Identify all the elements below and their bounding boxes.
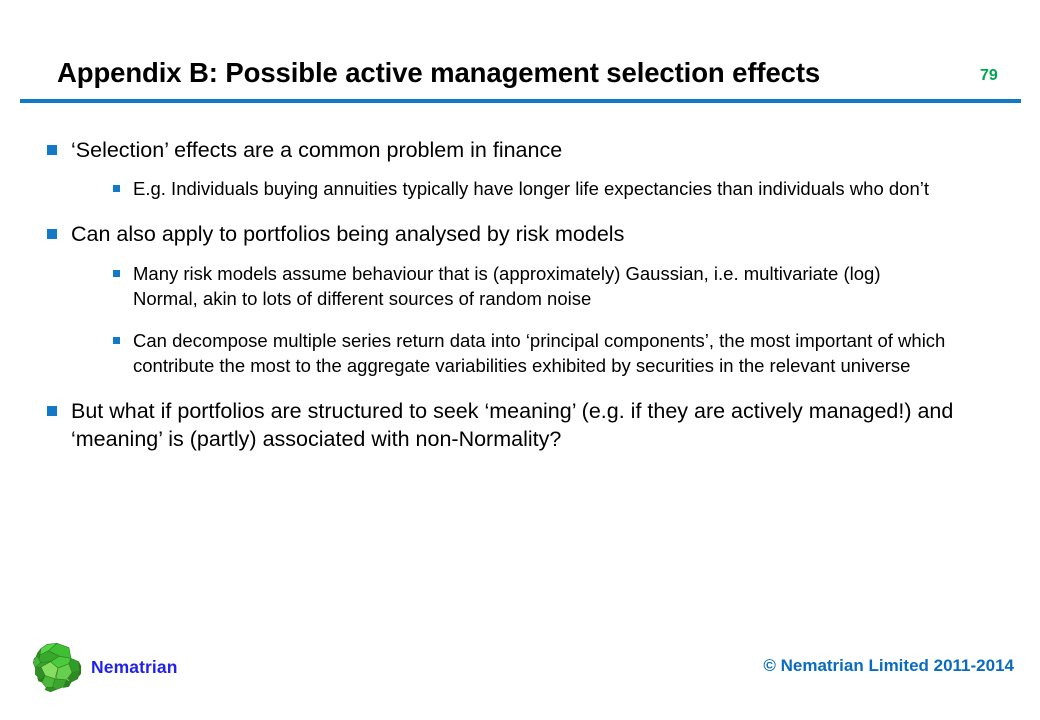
list-item: E.g. Individuals buying annuities typica…	[110, 177, 950, 202]
bullet-text: Can also apply to portfolios being analy…	[71, 222, 624, 246]
square-bullet-icon	[113, 270, 120, 277]
list-item: Many risk models assume behaviour that i…	[110, 262, 950, 312]
page-title: Appendix B: Possible active management s…	[57, 58, 947, 88]
sub-bullet-list: Many risk models assume behaviour that i…	[71, 262, 976, 379]
page-number: 79	[980, 67, 998, 85]
slide: Appendix B: Possible active management s…	[0, 0, 1040, 720]
slide-footer: Nematrian © Nematrian Limited 2011-2014	[0, 634, 1040, 720]
square-bullet-icon	[113, 337, 120, 344]
square-bullet-icon	[113, 185, 120, 192]
square-bullet-icon	[47, 229, 57, 239]
copyright-text: © Nematrian Limited 2011-2014	[763, 656, 1014, 676]
bullet-list: ‘Selection’ effects are a common problem…	[0, 136, 1040, 453]
bullet-text: ‘Selection’ effects are a common problem…	[71, 138, 562, 162]
list-item: But what if portfolios are structured to…	[44, 397, 976, 454]
polyhedron-sphere-icon	[30, 640, 84, 694]
list-item: ‘Selection’ effects are a common problem…	[44, 136, 976, 202]
list-item: Can decompose multiple series return dat…	[110, 329, 950, 379]
sub-bullet-text: Many risk models assume behaviour that i…	[133, 263, 881, 309]
sub-bullet-text: Can decompose multiple series return dat…	[133, 330, 945, 376]
title-divider	[20, 99, 1021, 103]
brand-logo[interactable]: Nematrian	[30, 640, 178, 694]
square-bullet-icon	[47, 145, 57, 155]
slide-header: Appendix B: Possible active management s…	[0, 0, 1040, 104]
slide-body: ‘Selection’ effects are a common problem…	[0, 136, 1040, 462]
sub-bullet-list: E.g. Individuals buying annuities typica…	[71, 177, 976, 202]
list-item: Can also apply to portfolios being analy…	[44, 220, 976, 378]
square-bullet-icon	[47, 406, 57, 416]
bullet-text: But what if portfolios are structured to…	[71, 399, 953, 451]
logo-wordmark: Nematrian	[91, 657, 178, 678]
sub-bullet-text: E.g. Individuals buying annuities typica…	[133, 178, 929, 199]
